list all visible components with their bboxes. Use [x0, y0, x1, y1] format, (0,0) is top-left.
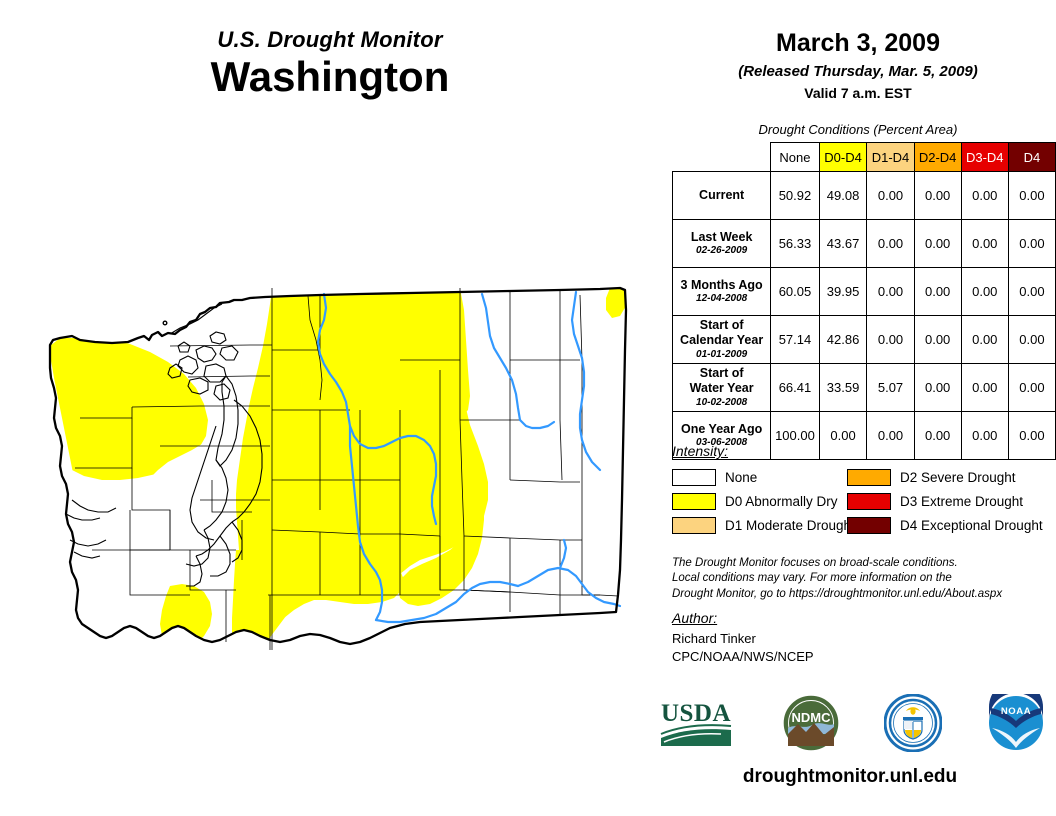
column-header-d4: D4 [1008, 143, 1055, 172]
row-date: 12-04-2008 [676, 293, 767, 305]
legend-label: None [725, 470, 757, 485]
table-cell: 0.00 [914, 172, 961, 220]
row-date: 01-01-2009 [676, 349, 767, 361]
legend-item: None [672, 469, 847, 486]
table-cell: 56.33 [771, 220, 819, 268]
svg-text:NDMC: NDMC [791, 710, 831, 725]
row-date: 02-26-2009 [676, 245, 767, 257]
legend-item: D3 Extreme Drought [847, 493, 1052, 510]
table-cell: 0.00 [961, 364, 1008, 412]
table-cell: 0.00 [1008, 172, 1055, 220]
legend-label: D2 Severe Drought [900, 470, 1016, 485]
usda-commerce-seal [884, 694, 942, 757]
disclaimer-line-2: Local conditions may vary. For more info… [672, 571, 1052, 586]
table-cell: 60.05 [771, 268, 819, 316]
table-cell: 0.00 [961, 220, 1008, 268]
legend-swatch [847, 517, 891, 534]
author-affiliation: CPC/NOAA/NWS/NCEP [672, 648, 1052, 666]
row-label: Start ofCalendar Year01-01-2009 [673, 316, 771, 364]
row-label: Last Week02-26-2009 [673, 220, 771, 268]
table-header-row: None D0-D4 D1-D4 D2-D4 D3-D4 D4 [673, 143, 1056, 172]
drought-conditions-table-wrap: None D0-D4 D1-D4 D2-D4 D3-D4 D4 Current5… [672, 142, 1056, 460]
table-cell: 0.00 [914, 268, 961, 316]
drought-monitor-supertitle: U.S. Drought Monitor [0, 28, 660, 51]
disclaimer-text: The Drought Monitor focuses on broad-sca… [672, 556, 1052, 602]
intensity-legend: Intensity: NoneD2 Severe DroughtD0 Abnor… [672, 443, 1052, 537]
table-cell: 0.00 [961, 172, 1008, 220]
table-row: Start ofCalendar Year01-01-200957.1442.8… [673, 316, 1056, 364]
table-cell: 0.00 [867, 316, 914, 364]
table-cell: 0.00 [1008, 220, 1055, 268]
table-row: 3 Months Ago12-04-200860.0539.950.000.00… [673, 268, 1056, 316]
table-cell: 33.59 [819, 364, 867, 412]
table-cell: 0.00 [1008, 268, 1055, 316]
legend-swatch [672, 469, 716, 486]
drought-conditions-table: None D0-D4 D1-D4 D2-D4 D3-D4 D4 Current5… [672, 142, 1056, 460]
legend-swatch [672, 517, 716, 534]
legend-label: D1 Moderate Drought [725, 518, 855, 533]
table-cell: 43.67 [819, 220, 867, 268]
site-url: droughtmonitor.unl.edu [655, 766, 1045, 788]
table-cell: 0.00 [961, 268, 1008, 316]
row-label: Current [673, 172, 771, 220]
table-cell: 50.92 [771, 172, 819, 220]
legend-grid: NoneD2 Severe DroughtD0 Abnormally DryD3… [672, 465, 1052, 537]
svg-text:USDA: USDA [661, 700, 731, 727]
table-cell: 0.00 [1008, 364, 1055, 412]
disclaimer-line-3: Drought Monitor, go to https://droughtmo… [672, 587, 1052, 602]
valid-time-text: Valid 7 a.m. EST [660, 85, 1056, 101]
noaa-logo: NOAA [987, 694, 1045, 757]
legend-swatch [847, 469, 891, 486]
drought-table-body: Current50.9249.080.000.000.000.00Last We… [673, 172, 1056, 460]
author-heading: Author: [672, 610, 1052, 626]
table-cell: 39.95 [819, 268, 867, 316]
row-label: 3 Months Ago12-04-2008 [673, 268, 771, 316]
table-cell: 0.00 [867, 172, 914, 220]
logo-row: USDA NDMC [655, 692, 1045, 758]
author-block: Author: Richard Tinker CPC/NOAA/NWS/NCEP [672, 610, 1052, 665]
table-cell: 0.00 [867, 268, 914, 316]
washington-drought-map [20, 250, 660, 670]
table-corner-cell [673, 143, 771, 172]
legend-swatch [847, 493, 891, 510]
column-header-d3-d4: D3-D4 [961, 143, 1008, 172]
legend-item: D1 Moderate Drought [672, 517, 847, 534]
usda-logo: USDA [655, 694, 737, 757]
row-date: 10-02-2008 [676, 397, 767, 409]
release-date: March 3, 2009 [660, 30, 1056, 58]
author-name: Richard Tinker [672, 630, 1052, 648]
table-cell: 0.00 [914, 364, 961, 412]
table-cell: 0.00 [867, 220, 914, 268]
ndmc-logo: NDMC [782, 694, 840, 757]
table-cell: 0.00 [914, 316, 961, 364]
legend-item: D2 Severe Drought [847, 469, 1052, 486]
table-cell: 5.07 [867, 364, 914, 412]
table-row: Start ofWater Year10-02-200866.4133.595.… [673, 364, 1056, 412]
legend-item: D0 Abnormally Dry [672, 493, 847, 510]
column-header-d1-d4: D1-D4 [867, 143, 914, 172]
svg-text:NOAA: NOAA [1001, 706, 1031, 717]
table-caption: Drought Conditions (Percent Area) [660, 122, 1056, 137]
page-title: Washington [0, 53, 660, 100]
legend-label: D4 Exceptional Drought [900, 518, 1043, 533]
disclaimer-line-1: The Drought Monitor focuses on broad-sca… [672, 556, 1052, 571]
released-on-text: (Released Thursday, Mar. 5, 2009) [660, 63, 1056, 80]
table-cell: 0.00 [961, 316, 1008, 364]
legend-item: D4 Exceptional Drought [847, 517, 1052, 534]
table-cell: 49.08 [819, 172, 867, 220]
column-header-d0-d4: D0-D4 [819, 143, 867, 172]
table-row: Current50.9249.080.000.000.000.00 [673, 172, 1056, 220]
legend-label: D0 Abnormally Dry [725, 494, 838, 509]
map-title-block: U.S. Drought Monitor Washington [0, 28, 660, 100]
legend-swatch [672, 493, 716, 510]
table-row: Last Week02-26-200956.3343.670.000.000.0… [673, 220, 1056, 268]
table-cell: 0.00 [914, 220, 961, 268]
table-cell: 0.00 [1008, 316, 1055, 364]
release-header: March 3, 2009 (Released Thursday, Mar. 5… [660, 30, 1056, 101]
table-cell: 57.14 [771, 316, 819, 364]
legend-label: D3 Extreme Drought [900, 494, 1023, 509]
intensity-heading: Intensity: [672, 443, 1052, 459]
column-header-d2-d4: D2-D4 [914, 143, 961, 172]
column-header-none: None [771, 143, 819, 172]
table-cell: 42.86 [819, 316, 867, 364]
row-label: Start ofWater Year10-02-2008 [673, 364, 771, 412]
table-cell: 66.41 [771, 364, 819, 412]
map-svg [20, 250, 660, 670]
